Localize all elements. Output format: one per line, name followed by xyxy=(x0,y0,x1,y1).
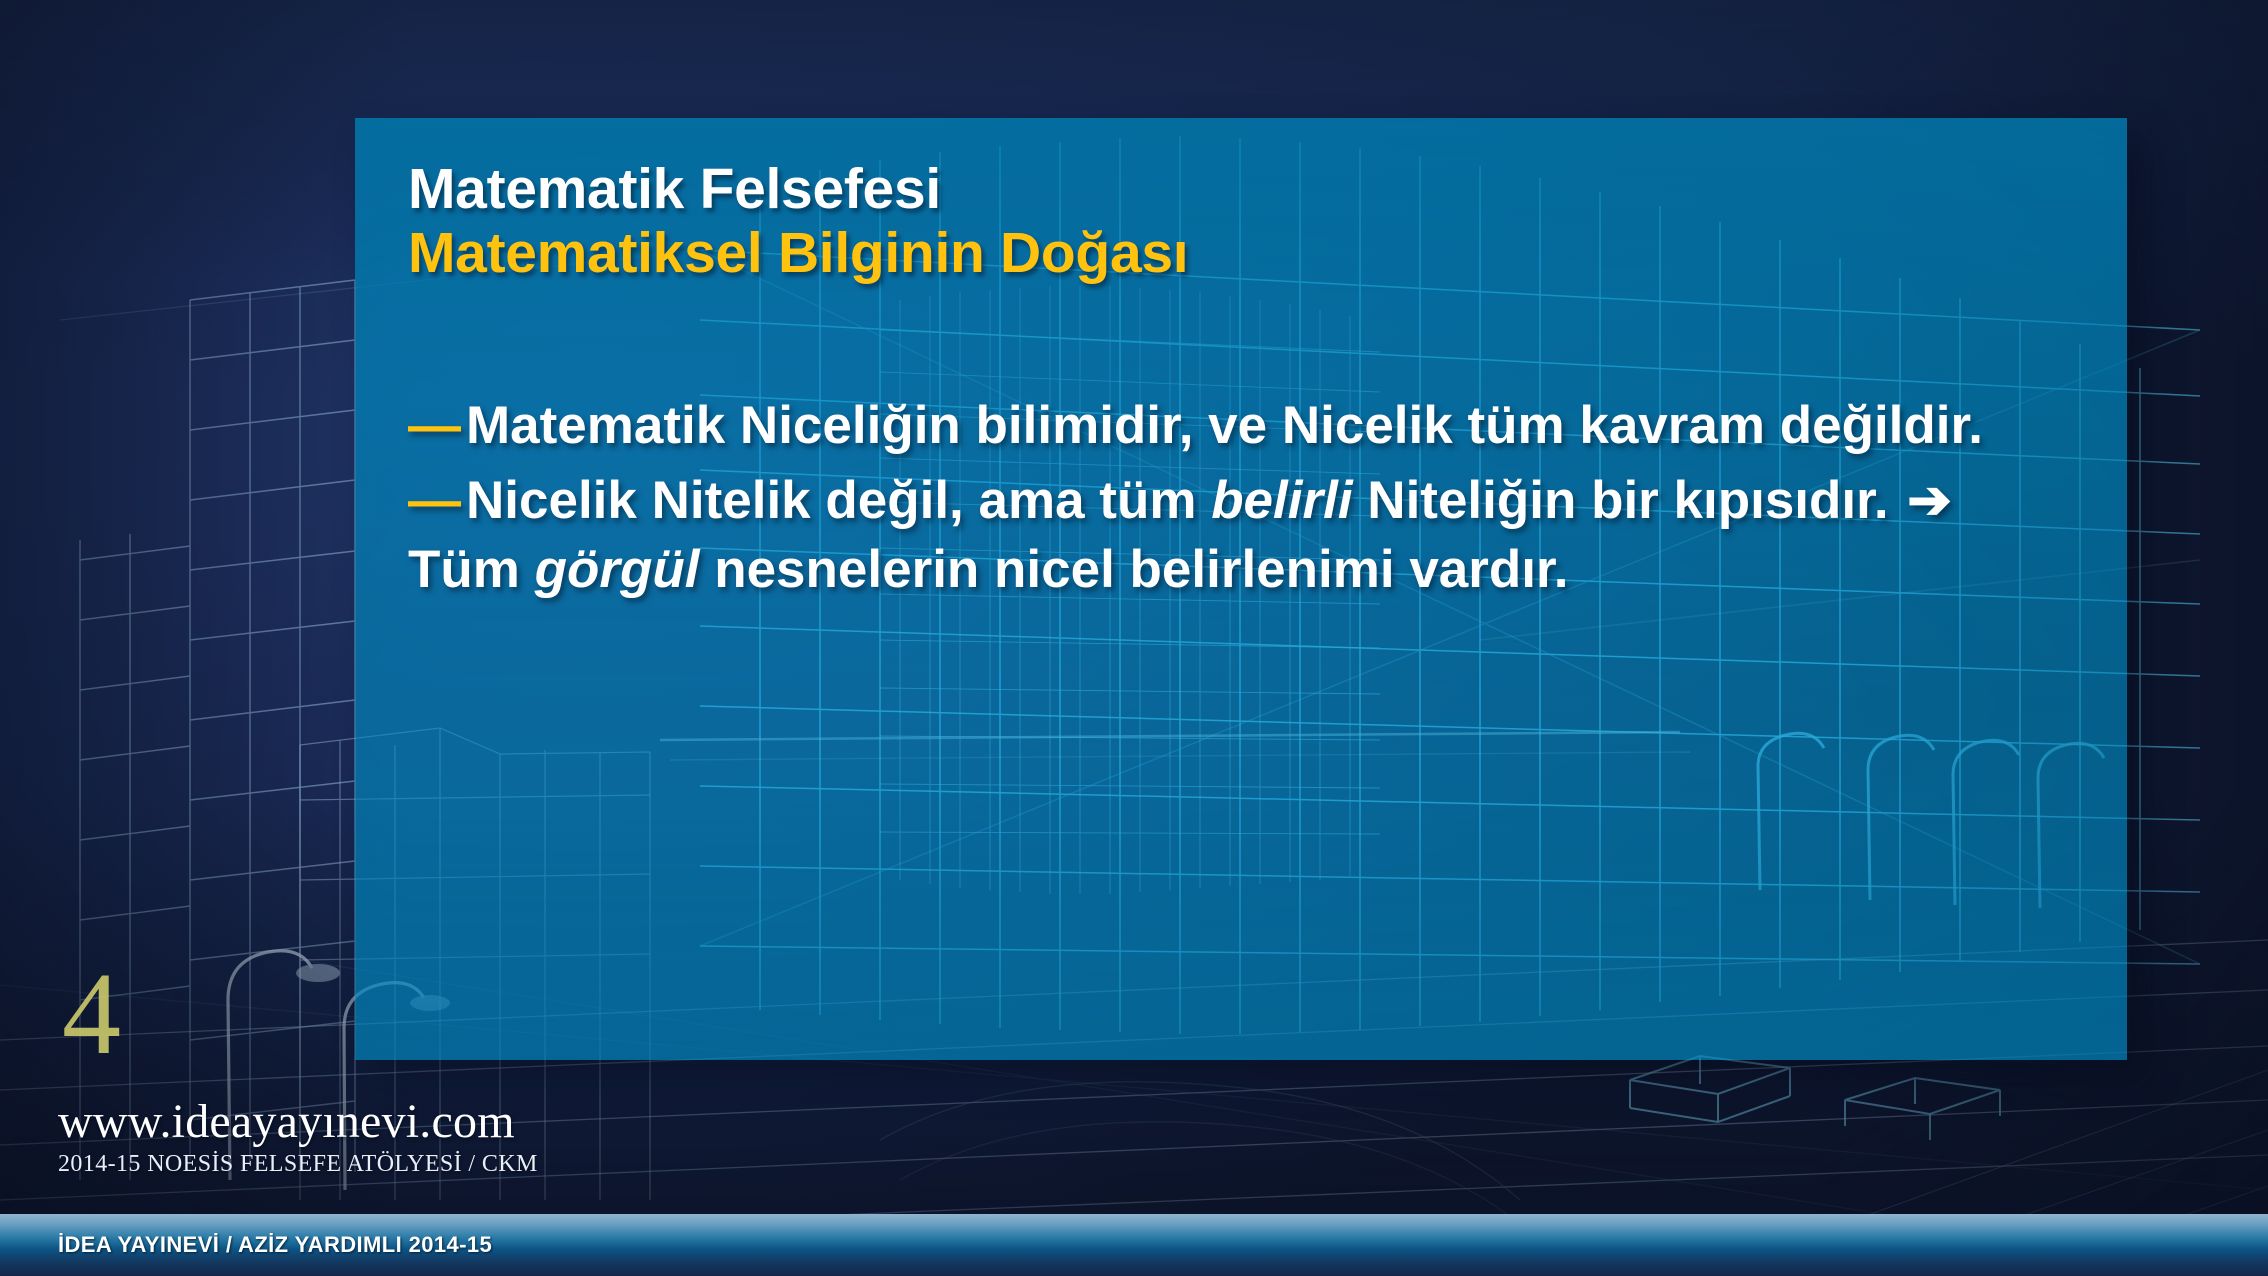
bullet-paragraph-2: —Nicelik Nitelik değil, ama tüm belirli … xyxy=(408,467,2028,605)
page-number: 4 xyxy=(62,955,121,1073)
website-url[interactable]: www.ideayayınevi.com xyxy=(58,1098,538,1146)
publisher-credit: İDEA YAYINEVİ / AZİZ YARDIMLI 2014-15 xyxy=(58,1232,492,1258)
em-dash-bullet-icon: — xyxy=(408,471,466,530)
atelier-credit: 2014-15 NOESİS FELSEFE ATÖLYESİ / CKM xyxy=(58,1151,538,1178)
bullet-2-text-part-3: Tüm xyxy=(408,540,535,599)
bullet-2-text-part-2: Niteliğin bir kıpısıdır. xyxy=(1353,471,1904,530)
page-title: Matematik Felsefesi xyxy=(408,158,1908,222)
bottom-bar: İDEA YAYINEVİ / AZİZ YARDIMLI 2014-15 xyxy=(0,1214,2268,1276)
page-subtitle: Matematiksel Bilginin Doğası xyxy=(408,222,1908,286)
bullet-2-italic-belirli: belirli xyxy=(1211,471,1352,530)
bullet-2-text-part-4: nesnelerin nicel belirlenimi vardır. xyxy=(699,540,1568,599)
slide-body-text: —Matematik Niceliğin bilimidir, ve Nicel… xyxy=(408,392,2028,611)
right-arrow-icon: ➔ xyxy=(1903,467,1955,536)
bullet-1-text: Matematik Niceliğin bilimidir, ve Niceli… xyxy=(466,396,1983,455)
bullet-paragraph-1: —Matematik Niceliğin bilimidir, ve Nicel… xyxy=(408,392,2028,461)
presentation-slide: Matematik Felsefesi Matematiksel Bilgini… xyxy=(0,0,2268,1276)
bullet-2-text-part-1: Nicelik Nitelik değil, ama tüm xyxy=(466,471,1211,530)
footer-left-block: www.ideayayınevi.com 2014-15 NOESİS FELS… xyxy=(58,1098,538,1178)
em-dash-bullet-icon: — xyxy=(408,396,466,455)
slide-title-block: Matematik Felsefesi Matematiksel Bilgini… xyxy=(408,158,1908,286)
bullet-2-italic-gorgul: görgül xyxy=(535,540,700,599)
